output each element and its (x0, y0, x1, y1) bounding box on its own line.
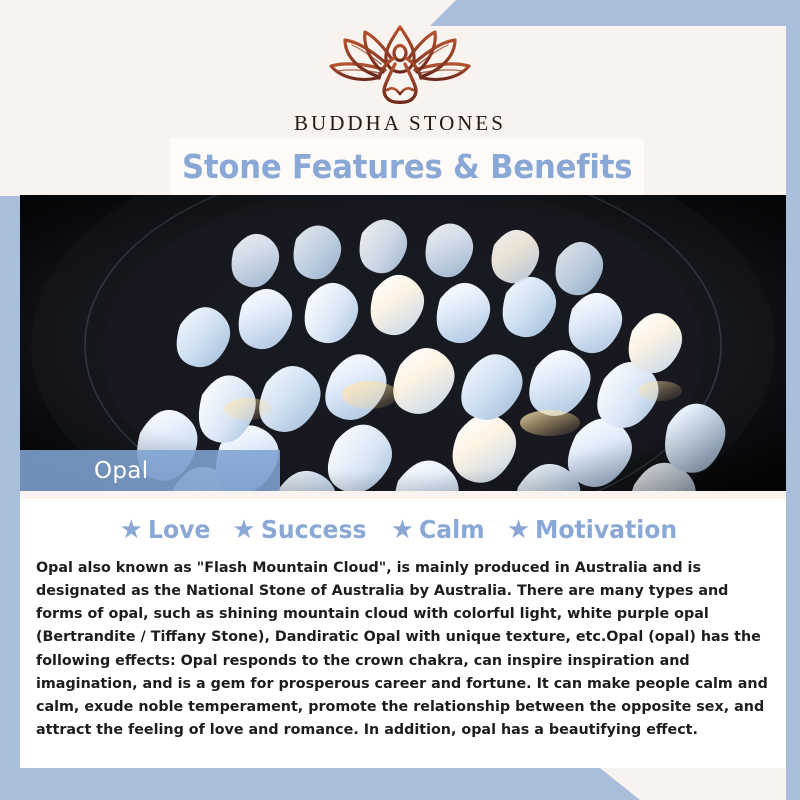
stone-name-text: Opal (94, 458, 148, 484)
content-panel: ★ Love ★ Success ★ Calm ★ Motivation Opa… (20, 491, 786, 768)
infographic-page: BUDDHA STONES Stone Features & Benefits (0, 0, 800, 800)
opal-tumbled-stones-photo: Opal (20, 195, 786, 491)
benefit-label: Motivation (535, 515, 677, 544)
brand-name: BUDDHA STONES (294, 111, 506, 136)
photo-illustration (20, 195, 786, 491)
benefit-label: Love (148, 515, 210, 544)
stone-name-label: Opal (20, 450, 280, 491)
benefits-row: ★ Love ★ Success ★ Calm ★ Motivation (20, 515, 786, 544)
content-top-divider (20, 491, 786, 499)
benefit-item-calm: ★ Calm (391, 515, 489, 544)
benefit-label: Success (261, 515, 366, 544)
benefit-label: Calm (419, 515, 485, 544)
benefit-item-love: ★ Love (120, 515, 215, 544)
title-banner: Stone Features & Benefits (170, 138, 644, 195)
brand-header: BUDDHA STONES (0, 0, 800, 145)
benefit-item-success: ★ Success (232, 515, 372, 544)
benefit-item-motivation: ★ Motivation (507, 515, 687, 544)
page-title: Stone Features & Benefits (182, 147, 632, 186)
decor-left-blue-rail (0, 196, 20, 776)
star-icon: ★ (391, 516, 414, 542)
decor-bottom-blue-band (0, 768, 640, 800)
lotus-meditation-icon (325, 24, 475, 106)
star-icon: ★ (232, 516, 255, 542)
star-icon: ★ (507, 516, 530, 542)
stone-description: Opal also known as "Flash Mountain Cloud… (36, 557, 770, 742)
star-icon: ★ (120, 516, 143, 542)
